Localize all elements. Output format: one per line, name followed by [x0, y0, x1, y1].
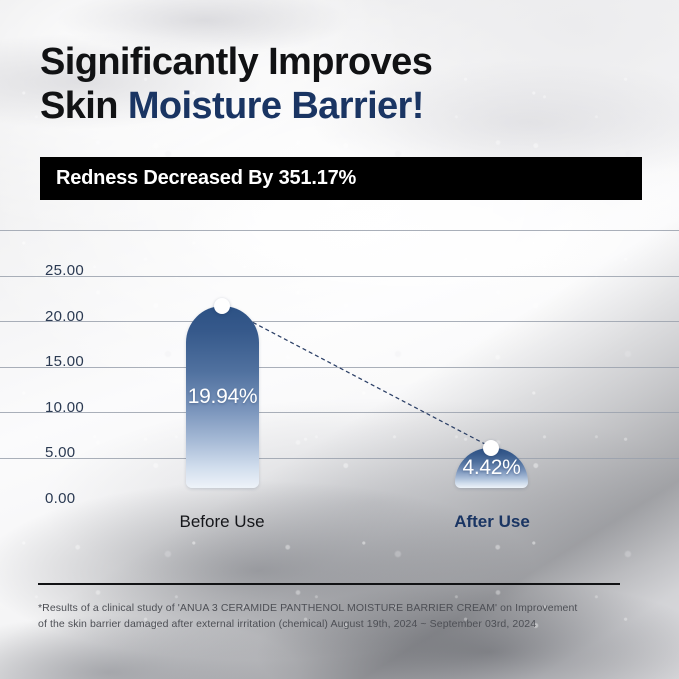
- infographic-canvas: Significantly Improves Skin Moisture Bar…: [0, 0, 679, 679]
- page-title: Significantly Improves Skin Moisture Bar…: [40, 40, 640, 128]
- y-tick-label-10: 10.00: [45, 399, 84, 416]
- bar-chart: 25.00 20.00 15.00 10.00 5.00 0.00 19.94%…: [0, 230, 679, 550]
- bar-before-use[interactable]: 19.94%: [186, 306, 259, 488]
- headline-line-2-plain: Skin: [40, 85, 128, 127]
- footnote-line-1: *Results of a clinical study of 'ANUA 3 …: [38, 600, 638, 616]
- plot-area: 19.94% 4.42%: [100, 260, 638, 488]
- x-label-after-use: After Use: [454, 512, 530, 532]
- bar-value-before-use: 19.94%: [188, 385, 257, 409]
- y-tick-label-5: 5.00: [45, 444, 75, 461]
- marker-after-use: [483, 440, 499, 456]
- y-tick-label-20: 20.00: [45, 308, 84, 325]
- redness-banner-text: Redness Decreased By 351.17%: [40, 167, 356, 190]
- gridline-25: [0, 230, 679, 231]
- headline-line-2-accent: Moisture Barrier!: [128, 85, 424, 127]
- y-tick-label-15: 15.00: [45, 353, 84, 370]
- y-tick-label-25: 25.00: [45, 262, 84, 279]
- x-label-before-use: Before Use: [179, 512, 264, 532]
- headline-line-1: Significantly Improves: [40, 40, 640, 84]
- y-tick-label-0: 0.00: [45, 490, 75, 507]
- footnote-line-2: of the skin barrier damaged after extern…: [38, 616, 638, 632]
- footer-divider: [38, 583, 620, 585]
- headline-line-2: Skin Moisture Barrier!: [40, 84, 640, 128]
- redness-banner: Redness Decreased By 351.17%: [40, 157, 642, 200]
- footnote: *Results of a clinical study of 'ANUA 3 …: [38, 600, 638, 633]
- trend-connector-line: [100, 260, 638, 488]
- bar-value-after-use: 4.42%: [462, 456, 520, 480]
